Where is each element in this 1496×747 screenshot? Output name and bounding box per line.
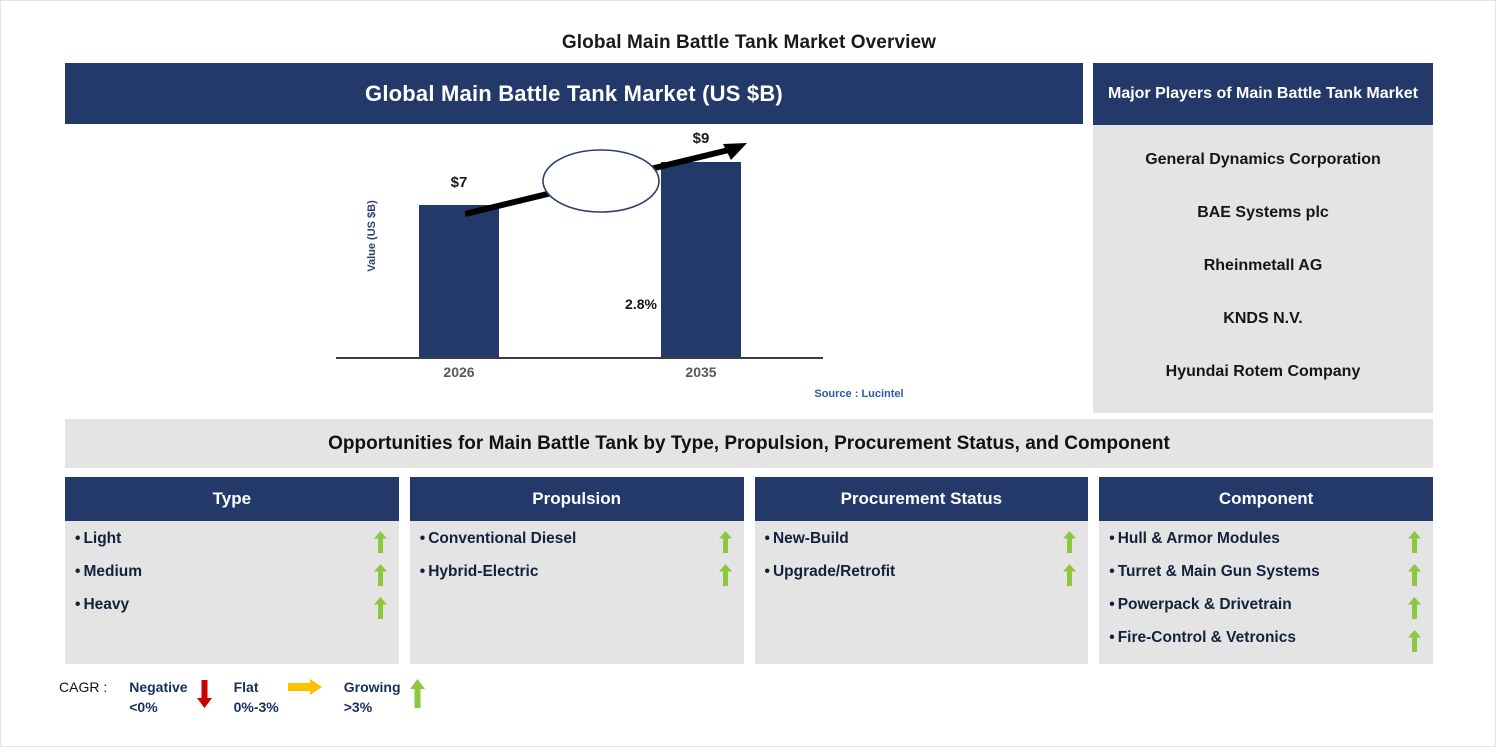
bullet-icon: • [75,563,80,580]
item-text: Medium [83,563,142,580]
legend-entry-range: <0% [129,699,157,715]
growing-arrow-icon [1408,564,1421,586]
item-text: Conventional Diesel [428,530,576,547]
item-text: New-Build [773,530,849,547]
legend-entry-text: Negative <0% [129,677,187,718]
list-item: General Dynamics Corporation [1099,151,1427,169]
legend-entry-name: Growing [344,679,401,695]
arrow-down-icon [197,678,212,708]
x-tick-2035: 2035 [641,364,761,380]
column-title: Component [1219,489,1313,509]
column-header-propulsion: Propulsion [410,477,744,521]
opportunity-column-procurement-status: Procurement Status •New-Build •Upgrade/R… [755,477,1089,664]
chart-title: Global Main Battle Tank Market (US $B) [365,81,783,107]
arrow-right-icon [288,678,322,700]
bullet-icon: • [75,596,80,613]
list-item: •Conventional Diesel [420,530,732,563]
item-text: Upgrade/Retrofit [773,563,895,580]
column-title: Propulsion [532,489,621,509]
bullet-icon: • [420,563,425,580]
column-items-propulsion: •Conventional Diesel •Hybrid-Electric [410,521,744,664]
growing-arrow-icon [719,531,732,553]
item-text: Turret & Main Gun Systems [1118,563,1320,580]
list-item: •Fire-Control & Vetronics [1109,629,1421,662]
bullet-icon: • [765,563,770,580]
y-axis-label: Value (US $B) [366,181,378,291]
growing-arrow-icon [1408,630,1421,652]
legend-entry-flat: Flat 0%-3% [234,677,322,718]
column-title: Type [213,489,251,509]
bullet-icon: • [1109,530,1114,547]
column-title: Procurement Status [841,489,1003,509]
growing-arrow-icon [1408,531,1421,553]
growing-arrow-icon [1063,531,1076,553]
growing-arrow-icon [374,597,387,619]
legend-entry-name: Flat [234,679,259,695]
item-label: •Hybrid-Electric [420,563,539,581]
page-title: Global Main Battle Tank Market Overview [1,32,1496,54]
legend-entry-text: Growing >3% [344,677,401,718]
list-item: Hyundai Rotem Company [1099,363,1427,381]
column-header-component: Component [1099,477,1433,521]
bullet-icon: • [1109,596,1114,613]
legend-entry-growing: Growing >3% [344,677,425,718]
column-header-type: Type [65,477,399,521]
arrow-up-icon [410,678,425,710]
item-label: •Light [75,530,121,548]
chart-card-header: Global Main Battle Tank Market (US $B) [65,63,1083,124]
bullet-icon: • [420,530,425,547]
infographic-page: Global Main Battle Tank Market Overview … [0,0,1496,747]
opportunity-column-type: Type •Light •Medium •Heavy [65,477,399,664]
item-label: •Upgrade/Retrofit [765,563,896,581]
legend-entry-negative: Negative <0% [129,677,211,718]
legend-entry-name: Negative [129,679,187,695]
item-label: •Medium [75,563,142,581]
bullet-icon: • [75,530,80,547]
legend-entry-range: 0%-3% [234,699,279,715]
chart-source-label: Source : Lucintel [759,388,959,400]
column-items-type: •Light •Medium •Heavy [65,521,399,664]
market-chart-card: Global Main Battle Tank Market (US $B) V… [65,63,1083,413]
cagr-legend-title: CAGR : [59,679,107,695]
list-item: •Hull & Armor Modules [1109,530,1421,563]
list-item: •Medium [75,563,387,596]
item-label: •Powerpack & Drivetrain [1109,596,1291,614]
bullet-icon: • [1109,563,1114,580]
growth-arrow-icon [465,136,785,226]
list-item: KNDS N.V. [1099,310,1427,328]
growing-arrow-icon [719,564,732,586]
cagr-annotation: 2.8% [599,296,683,312]
item-label: •New-Build [765,530,849,548]
cagr-legend: CAGR : Negative <0% Flat 0%-3% Growing >… [59,677,425,723]
item-text: Heavy [83,596,129,613]
bullet-icon: • [1109,629,1114,646]
bullet-icon: • [765,530,770,547]
bar-2026 [419,205,499,357]
chart-plot-area: Value (US $B) $7 $9 2026 2035 2.8% Sourc… [65,124,1083,413]
list-item: •Light [75,530,387,563]
item-label: •Conventional Diesel [420,530,577,548]
opportunities-banner: Opportunities for Main Battle Tank by Ty… [65,419,1433,468]
opportunities-columns: Type •Light •Medium •Heavy Prop [65,477,1433,664]
major-players-card: Major Players of Main Battle Tank Market… [1093,63,1433,413]
item-text: Hull & Armor Modules [1118,530,1280,547]
column-header-procurement-status: Procurement Status [755,477,1089,521]
item-label: •Turret & Main Gun Systems [1109,563,1320,581]
list-item: •Turret & Main Gun Systems [1109,563,1421,596]
list-item: •Heavy [75,596,387,629]
major-players-header: Major Players of Main Battle Tank Market [1093,63,1433,125]
list-item: •Upgrade/Retrofit [765,563,1077,596]
item-label: •Hull & Armor Modules [1109,530,1280,548]
item-text: Fire-Control & Vetronics [1118,629,1296,646]
list-item: •New-Build [765,530,1077,563]
growing-arrow-icon [374,531,387,553]
legend-entry-text: Flat 0%-3% [234,677,279,718]
column-items-procurement-status: •New-Build •Upgrade/Retrofit [755,521,1089,664]
growing-arrow-icon [374,564,387,586]
column-items-component: •Hull & Armor Modules •Turret & Main Gun… [1099,521,1433,664]
item-text: Light [83,530,121,547]
growing-arrow-icon [1408,597,1421,619]
major-players-list: General Dynamics Corporation BAE Systems… [1093,125,1433,413]
opportunity-column-propulsion: Propulsion •Conventional Diesel •Hybrid-… [410,477,744,664]
legend-entry-range: >3% [344,699,372,715]
opportunity-column-component: Component •Hull & Armor Modules •Turret … [1099,477,1433,664]
list-item: •Powerpack & Drivetrain [1109,596,1421,629]
item-text: Hybrid-Electric [428,563,538,580]
x-axis-line [336,357,823,359]
list-item: •Hybrid-Electric [420,563,732,596]
growing-arrow-icon [1063,564,1076,586]
x-tick-2026: 2026 [399,364,519,380]
item-label: •Heavy [75,596,129,614]
item-text: Powerpack & Drivetrain [1118,596,1292,613]
major-players-title: Major Players of Main Battle Tank Market [1108,84,1418,104]
item-label: •Fire-Control & Vetronics [1109,629,1296,647]
list-item: BAE Systems plc [1099,204,1427,222]
list-item: Rheinmetall AG [1099,257,1427,275]
opportunities-title: Opportunities for Main Battle Tank by Ty… [328,433,1170,455]
